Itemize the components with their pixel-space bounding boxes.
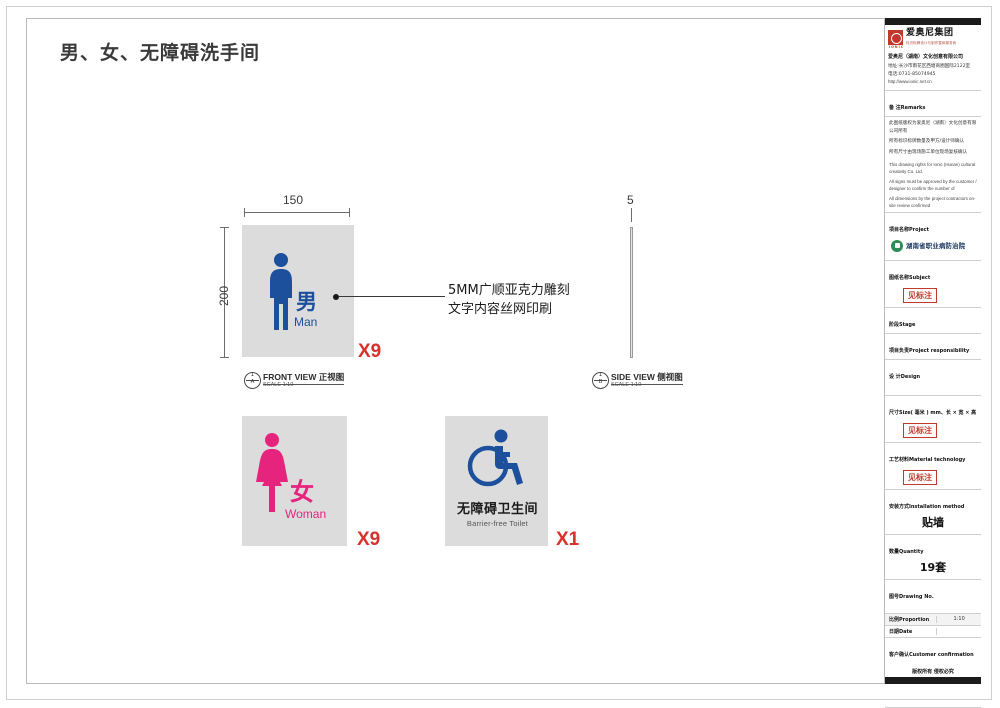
sign-label-en-women: Woman [285,508,326,520]
side-view-strip [630,227,633,358]
field-customer-caption-en: Customer confirmation [909,652,974,658]
field-design-caption-cn: 设 计 [889,374,901,380]
remark-en-2: All signs must be approved by the custom… [889,178,977,195]
field-proportion: 比例Proportion 1:10 [885,614,981,626]
callout-text: 5MM广顺亚克力雕刻 文字内容丝网印刷 [448,282,570,320]
field-project-responsibility: 项目负责Project responsibility [885,334,981,360]
view-number-front: 1 [245,372,260,378]
view-letter-front: A [245,379,260,385]
field-quantity-value: 19套 [889,557,977,576]
field-drawing-no-caption-en: Drawing No. [899,594,934,600]
remark-cn-3: 所有尺寸由现场施工单位现场复核确认 [889,149,977,161]
copyright-notice: 版权所有 侵权必究 [885,668,981,677]
field-project-caption-en: Project [909,227,929,233]
dim-top-line [244,212,350,213]
field-size: 尺寸Size( 毫米 ) mm、长 × 宽 × 高 见标注 [885,396,981,443]
view-number-side: 1 [593,372,608,378]
dim-top-tick-left [244,208,245,217]
remarks-caption-en: Remarks [901,105,926,111]
quantity-badge-women: X9 [357,529,380,551]
callout-leader-line [339,296,445,297]
remark-en-3: All dimensions by the project contractor… [889,195,977,209]
field-quantity: 数量Quantity 19套 [885,535,981,580]
field-responsibility-caption-cn: 项目负责 [889,348,909,354]
sign-label-cn-accessible: 无障碍卫生间 [455,498,540,517]
field-design: 设 计Design [885,360,981,396]
field-installation-caption-en: Installation method [909,504,964,510]
field-project-value: 湖南省职业病防治院 [906,241,965,250]
ionic-logo-icon [888,30,903,45]
dim-left-tick-bottom [220,357,229,358]
sign-label-en-accessible: Barrier-free Toilet [455,519,540,528]
company-phone: 电话:0731-85074945 [888,71,978,79]
field-material: 工艺材料Material technology 见标注 [885,443,981,490]
field-drawing-no-caption-cn: 图号 [889,594,899,600]
field-date-caption-cn: 日期 [889,629,899,635]
field-proportion-caption-cn: 比例 [889,617,899,623]
project-logo-row: 湖南省职业病防治院 [889,235,977,257]
proportion-row: 比例Proportion 1:10 [885,616,981,623]
remarks-caption-cn: 备 注 [889,105,901,111]
field-subject-caption-cn: 图纸名称 [889,275,909,281]
title-block-bottom-bar [885,677,981,684]
sign-label-en-men: Man [294,316,317,328]
field-responsibility-caption-en: Project responsibility [909,348,969,354]
field-date-value [936,628,981,635]
field-material-value: 见标注 [903,470,937,485]
remarks-body: 此图纸版权为爱奥尼（湖南）文化创意有限公司所有 所有标识标牌数量及甲方/设计师确… [885,117,981,213]
sign-label-cn-men: 男 [296,292,317,313]
remark-cn-1: 此图纸版权为爱奥尼（湖南）文化创意有限公司所有 [889,120,977,138]
field-size-caption-en: Size( 毫米 ) mm、长 × 宽 × 高 [899,410,976,416]
field-customer-caption-cn: 客户确认 [889,652,909,658]
field-proportion-value: 1:10 [936,616,981,623]
field-subject-caption-en: Subject [909,275,930,281]
field-date-caption-en: Date [899,629,912,635]
quantity-badge-accessible: X1 [556,529,579,551]
field-installation: 安装方式Installation method 贴墙 [885,490,981,535]
company-full-name: 爱奥尼（湖南）文化创意有限公司 [888,49,978,60]
field-quantity-caption-en: Quantity [899,549,924,555]
inner-frame [26,18,981,684]
hospital-logo-icon [891,240,903,252]
field-subject: 图纸名称Subject 见标注 [885,261,981,308]
field-subject-value: 见标注 [903,288,937,303]
field-stage-caption-cn: 阶段 [889,322,899,328]
dim-left-tick-top [220,227,229,228]
page-title: 男、女、无障碍洗手间 [60,38,260,65]
company-website: http://www.ionic.net.cn [888,78,978,85]
quantity-badge-men: X9 [358,341,381,363]
remark-cn-2: 所有标识标牌数量及甲方/设计师确认 [889,138,977,149]
company-logo-tagline: 标识标牌设计与制作整体服务商 [906,38,956,45]
date-row: 日期Date [885,628,981,635]
field-size-caption-cn: 尺寸 [889,410,899,416]
view-bubble-side: 1 B [592,372,609,389]
field-project-caption-cn: 项目名称 [889,227,909,233]
sign-label-cn-women: 女 [290,480,314,504]
company-logo-row: 爱奥尼集团 标识标牌设计与制作整体服务商 [888,29,978,45]
wheelchair-pictogram-icon [465,428,527,490]
title-block: 爱奥尼集团 标识标牌设计与制作整体服务商 IONIC 爱奥尼（湖南）文化创意有限… [884,18,981,684]
view-bubble-front: 1 A [244,372,261,389]
field-size-value: 见标注 [903,423,937,438]
field-drawing-no: 图号Drawing No. [885,580,981,614]
dim-top-tick-right [349,208,350,217]
dim-side-leader [631,208,632,222]
dim-left-label: 200 [217,286,231,306]
field-material-caption-en: Material technology [909,457,965,463]
view-letter-side: B [593,379,608,385]
woman-pictogram-icon [255,432,289,514]
dim-top-label: 150 [283,193,303,207]
drawing-sheet: 男、女、无障碍洗手间 150 200 男 Man X9 5MM广顺亚克力雕刻 文… [0,0,1000,707]
field-installation-value: 贴墙 [889,512,977,531]
view-scale-front: SCALE 1:10 [263,382,293,388]
callout-dot [333,294,339,300]
remarks-header: 备 注Remarks [885,91,981,117]
field-installation-caption-cn: 安装方式 [889,504,909,510]
view-scale-side: SCALE 1:10 [611,382,641,388]
dim-side-label: 5 [627,193,634,207]
company-logo-block: 爱奥尼集团 标识标牌设计与制作整体服务商 IONIC 爱奥尼（湖南）文化创意有限… [885,25,981,91]
field-project: 项目名称Project 湖南省职业病防治院 [885,213,981,261]
field-quantity-caption-cn: 数量 [889,549,899,555]
remark-en-1: This drawing rights for Ionic (Hunan) cu… [889,161,977,178]
field-proportion-caption-en: Proportion [899,617,929,623]
title-block-top-bar [885,18,981,25]
field-date: 日期Date [885,626,981,638]
field-stage: 阶段Stage [885,308,981,334]
company-logo-name: 爱奥尼集团 [906,29,956,38]
field-stage-caption-en: Stage [899,322,915,328]
field-material-caption-cn: 工艺材料 [889,457,909,463]
field-design-caption-en: Design [901,374,920,380]
company-address: 地址:长沙市雨花区西塘商圈国际2122室 [888,60,978,71]
man-pictogram-icon [266,252,296,332]
